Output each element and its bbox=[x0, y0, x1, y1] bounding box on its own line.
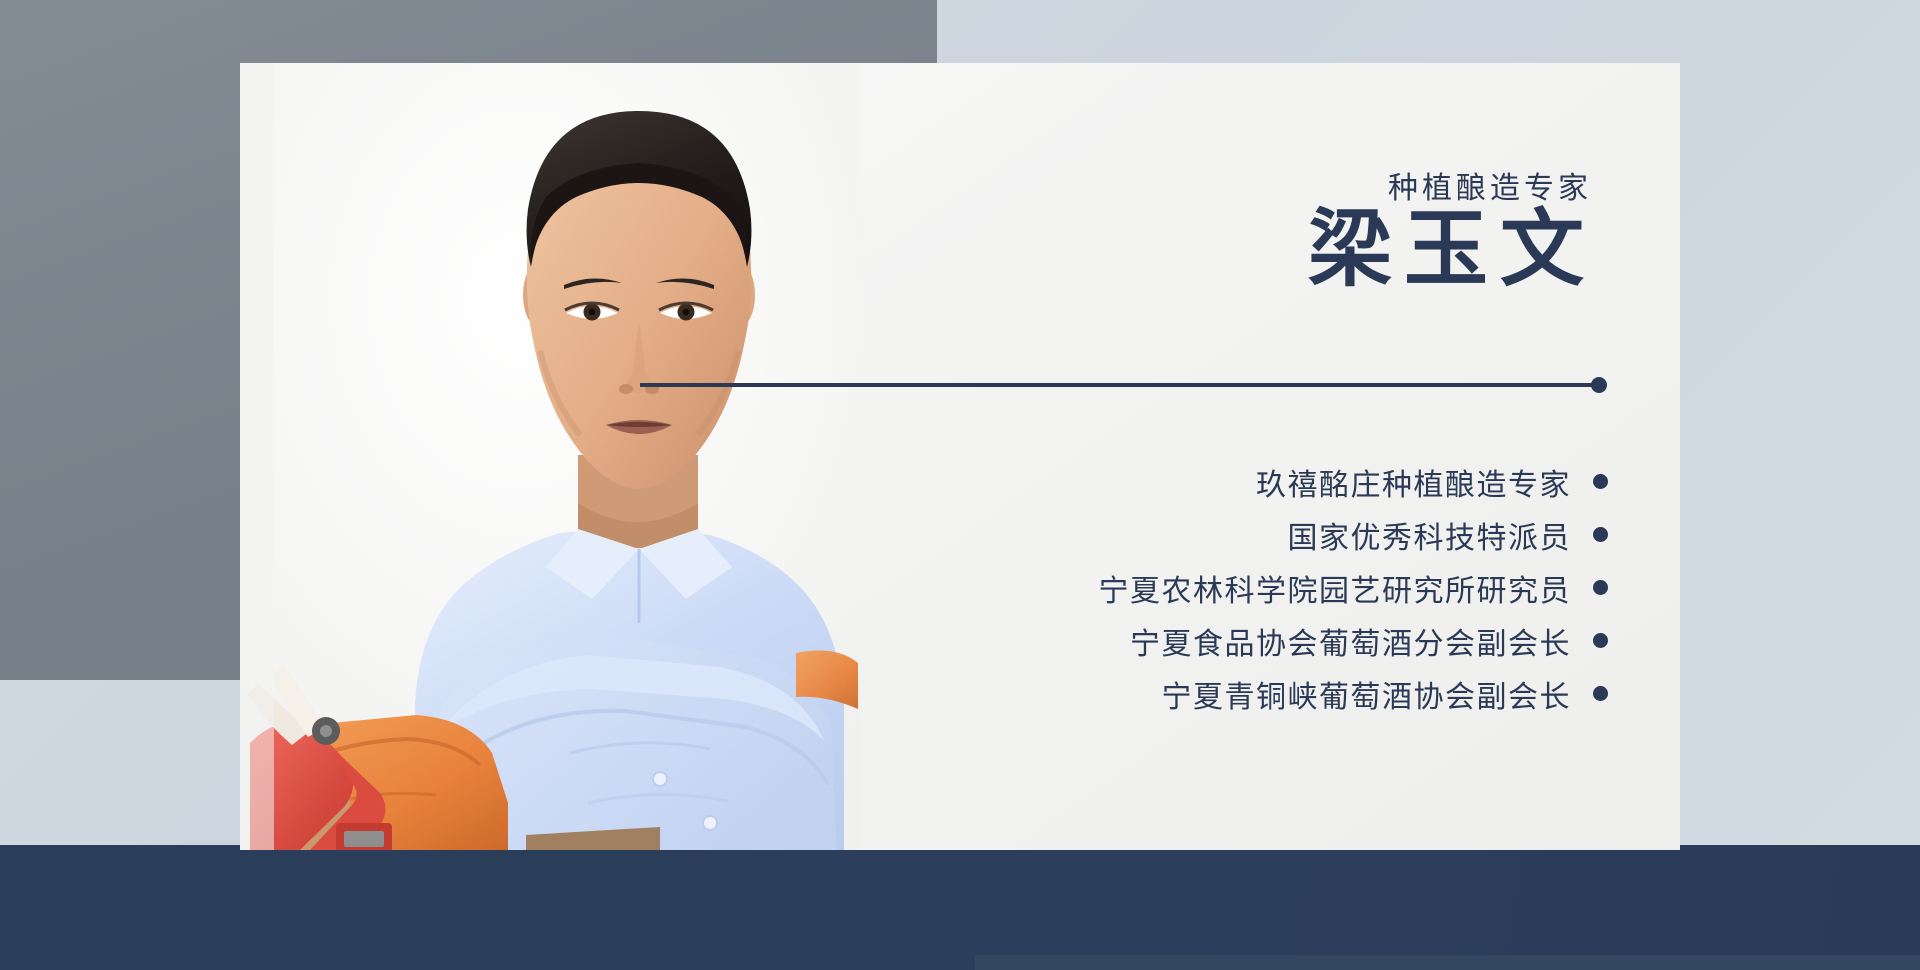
bullet-dot-icon bbox=[1593, 686, 1608, 701]
credential-label: 宁夏农林科学院园艺研究所研究员 bbox=[1099, 566, 1572, 610]
bullet-dot-icon bbox=[1593, 474, 1608, 489]
profile-info: 种植酿造专家 梁玉文 玖禧酩庄种植酿造专家 国家优秀科技特派员 宁夏农林科学院园… bbox=[860, 63, 1680, 850]
expert-name: 梁玉文 bbox=[1308, 205, 1596, 297]
bullet-dot-icon bbox=[1593, 580, 1608, 595]
credentials-list: 玖禧酩庄种植酿造专家 国家优秀科技特派员 宁夏农林科学院园艺研究所研究员 宁夏食… bbox=[860, 455, 1680, 720]
portrait-photo bbox=[240, 63, 860, 850]
credential-label: 国家优秀科技特派员 bbox=[1288, 513, 1572, 557]
poster-stage: 种植酿造专家 梁玉文 玖禧酩庄种植酿造专家 国家优秀科技特派员 宁夏农林科学院园… bbox=[0, 0, 1920, 970]
credential-label: 宁夏食品协会葡萄酒分会副会长 bbox=[1130, 619, 1571, 663]
list-item: 宁夏食品协会葡萄酒分会副会长 bbox=[860, 614, 1680, 667]
list-item: 国家优秀科技特派员 bbox=[860, 508, 1680, 561]
background-navy-band bbox=[0, 845, 1920, 970]
background-navy-footer-strip bbox=[975, 955, 1920, 970]
list-item: 宁夏青铜峡葡萄酒协会副会长 bbox=[860, 667, 1680, 720]
credential-label: 玖禧酩庄种植酿造专家 bbox=[1256, 460, 1571, 504]
credential-label: 宁夏青铜峡葡萄酒协会副会长 bbox=[1162, 672, 1572, 716]
bullet-dot-icon bbox=[1593, 527, 1608, 542]
bullet-dot-icon bbox=[1593, 633, 1608, 648]
role-title: 种植酿造专家 bbox=[1388, 163, 1592, 207]
list-item: 玖禧酩庄种植酿造专家 bbox=[860, 455, 1680, 508]
list-item: 宁夏农林科学院园艺研究所研究员 bbox=[860, 561, 1680, 614]
profile-card: 种植酿造专家 梁玉文 玖禧酩庄种植酿造专家 国家优秀科技特派员 宁夏农林科学院园… bbox=[240, 63, 1680, 850]
